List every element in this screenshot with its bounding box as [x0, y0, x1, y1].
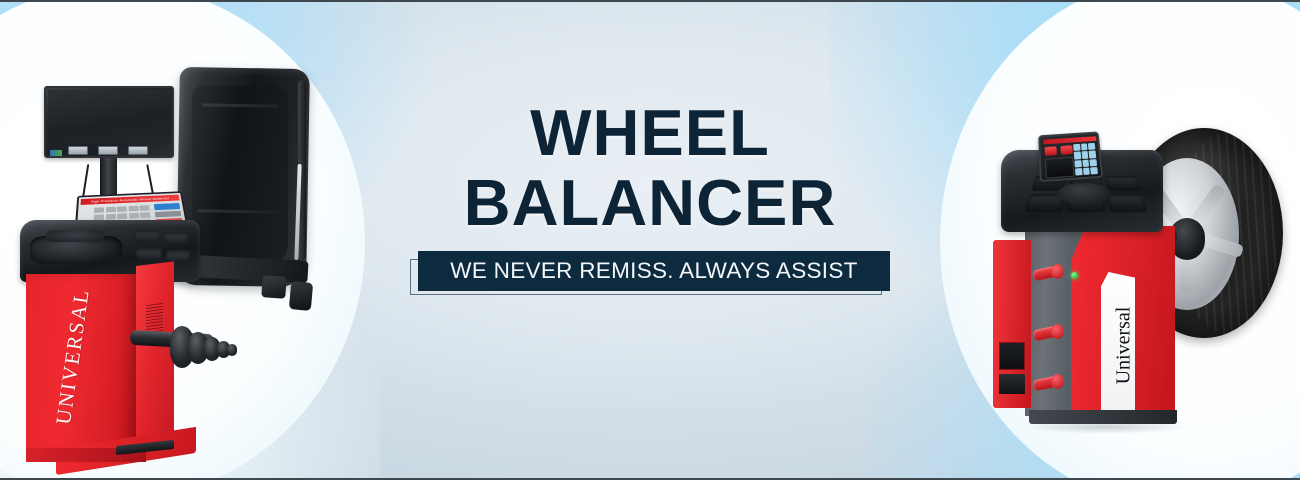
- lever-knob: [1051, 264, 1064, 279]
- side-panel-slot: [999, 374, 1025, 394]
- guard-clamp: [261, 275, 286, 299]
- wheel-guard-inner-panel: [192, 86, 288, 266]
- weight-tray-lip: [46, 230, 104, 242]
- monitor-stand: [100, 158, 117, 198]
- tagline-bar: WE NEVER REMISS. ALWAYS ASSIST: [418, 251, 890, 291]
- shaft-cone: [227, 344, 237, 356]
- monitor-button: [128, 146, 148, 155]
- tagline-banner: WE NEVER REMISS. ALWAYS ASSIST: [410, 251, 890, 299]
- banner-text-block: WHEEL BALANCER WE NEVER REMISS. ALWAYS A…: [390, 98, 910, 299]
- accessory-pocket: [134, 230, 160, 242]
- control-panel-red-button: [1045, 146, 1057, 155]
- monitor-button: [98, 146, 118, 155]
- lever-knob: [1051, 324, 1064, 339]
- cabinet-side-face: [136, 261, 174, 448]
- control-panel-display: [1045, 157, 1075, 179]
- tagline-text: WE NEVER REMISS. ALWAYS ASSIST: [450, 258, 857, 284]
- accessory-pocket: [166, 250, 190, 262]
- control-panel: [1038, 131, 1103, 182]
- accessory-pocket: [136, 248, 162, 260]
- monitor-button: [68, 146, 88, 155]
- accessory-pocket: [164, 232, 188, 244]
- lever-knob: [1051, 374, 1064, 389]
- monitor-logo: [50, 150, 62, 156]
- monitor-screen: [48, 90, 170, 144]
- guard-clamp: [289, 281, 313, 311]
- left-wheel-balancer-product-image: High Precision Automatic Wheel Balancer …: [12, 60, 342, 460]
- right-wheel-balancer-product-image: Universal: [985, 122, 1285, 462]
- control-panel-red-button: [1060, 145, 1072, 154]
- side-panel-label: [999, 342, 1025, 370]
- page-title-line2: BALANCER: [390, 168, 910, 238]
- ground-shadow: [1021, 420, 1191, 434]
- wheel-balancer-banner: High Precision Automatic Wheel Balancer …: [0, 0, 1300, 480]
- right-machine-brand-label: Universal: [1113, 291, 1136, 401]
- control-panel-keypad: [1073, 143, 1098, 176]
- page-title-line1: WHEEL: [390, 98, 910, 168]
- power-led-icon: [1071, 272, 1078, 279]
